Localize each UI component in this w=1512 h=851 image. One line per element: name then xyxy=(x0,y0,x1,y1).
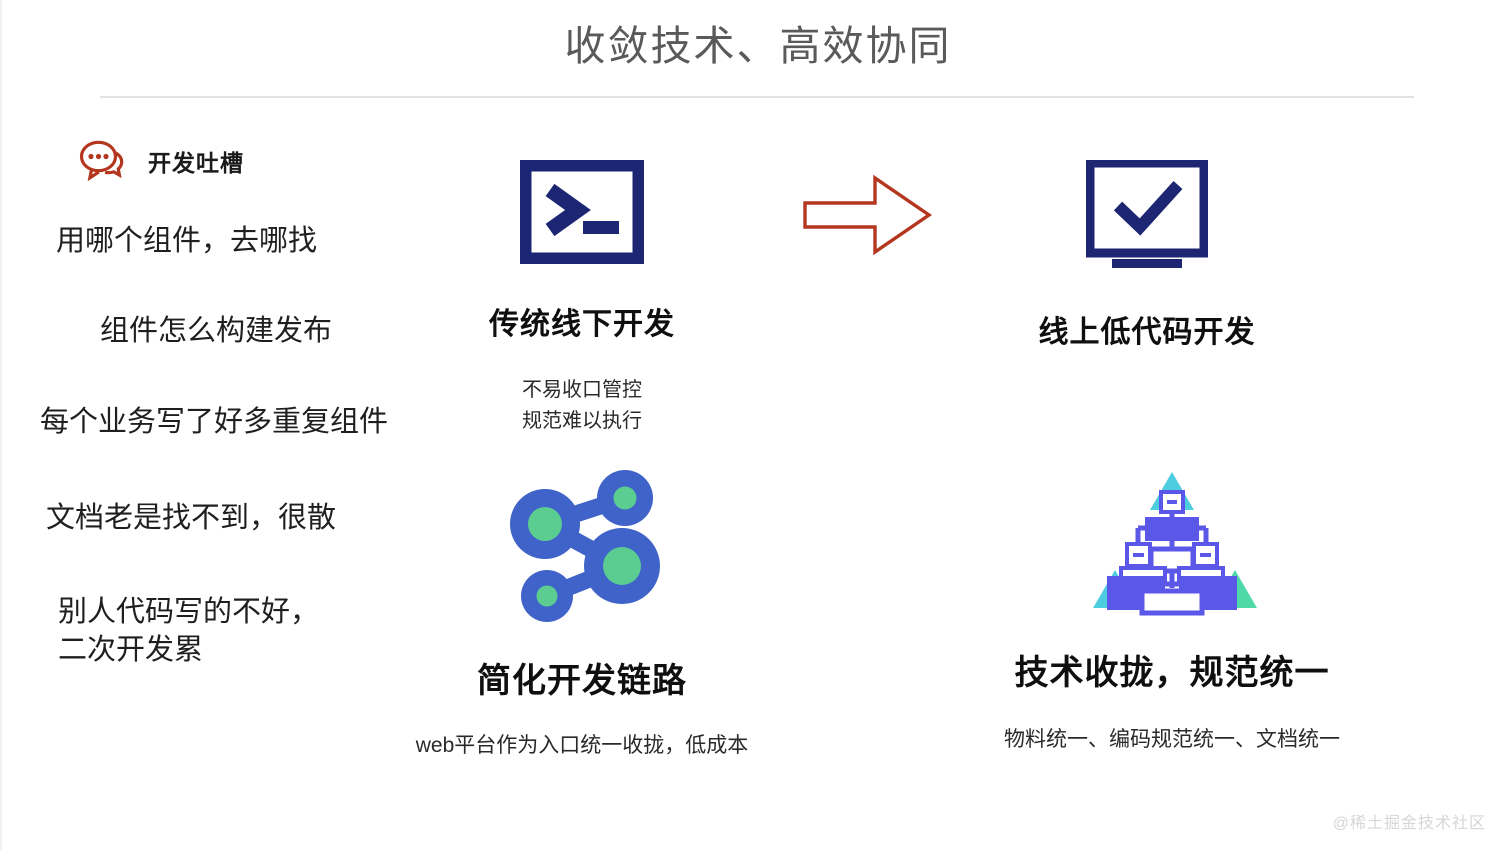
card-title: 传统线下开发 xyxy=(422,299,742,343)
share-network-icon xyxy=(402,466,762,631)
card-traditional-development: 传统线下开发 不易收口管控 规范难以执行 xyxy=(422,160,742,437)
gripe-item: 组件怎么构建发布 xyxy=(100,312,472,350)
card-subtitle: web平台作为入口统一收拢，低成本 xyxy=(402,730,762,763)
card-title: 线上低代码开发 xyxy=(987,307,1307,351)
right-arrow-outline-icon xyxy=(797,170,937,260)
card-simplify-chain: 简化开发链路 web平台作为入口统一收拢，低成本 xyxy=(402,466,762,763)
monitor-check-icon xyxy=(987,160,1307,275)
card-technology-convergence: 技术收拢，规范统一 物料统一、编码规范统一、文档统一 xyxy=(962,466,1382,757)
terminal-icon xyxy=(422,160,742,269)
chat-bubbles-icon xyxy=(78,136,134,186)
card-title: 技术收拢，规范统一 xyxy=(962,645,1382,694)
card-title: 简化开发链路 xyxy=(402,653,762,702)
gripes-header: 开发吐槽 xyxy=(78,136,244,186)
card-subtitle: 物料统一、编码规范统一、文档统一 xyxy=(962,724,1382,757)
title-divider xyxy=(100,96,1414,98)
org-chart-icon xyxy=(962,466,1382,621)
card-subtitle: 不易收口管控 规范难以执行 xyxy=(422,375,742,437)
watermark: @稀土掘金技术社区 xyxy=(1333,809,1486,833)
page-title: 收敛技术、高效协同 xyxy=(2,22,1512,71)
slide-root: 收敛技术、高效协同 开发吐槽 用哪个组件，去哪找 组件怎么构建发布 每个业务写了… xyxy=(0,0,1512,851)
card-lowcode-development: 线上低代码开发 xyxy=(987,160,1307,351)
gripe-item: 用哪个组件，去哪找 xyxy=(56,222,472,260)
gripe-item: 每个业务写了好多重复组件 xyxy=(40,403,472,441)
gripes-heading: 开发吐槽 xyxy=(148,144,244,178)
